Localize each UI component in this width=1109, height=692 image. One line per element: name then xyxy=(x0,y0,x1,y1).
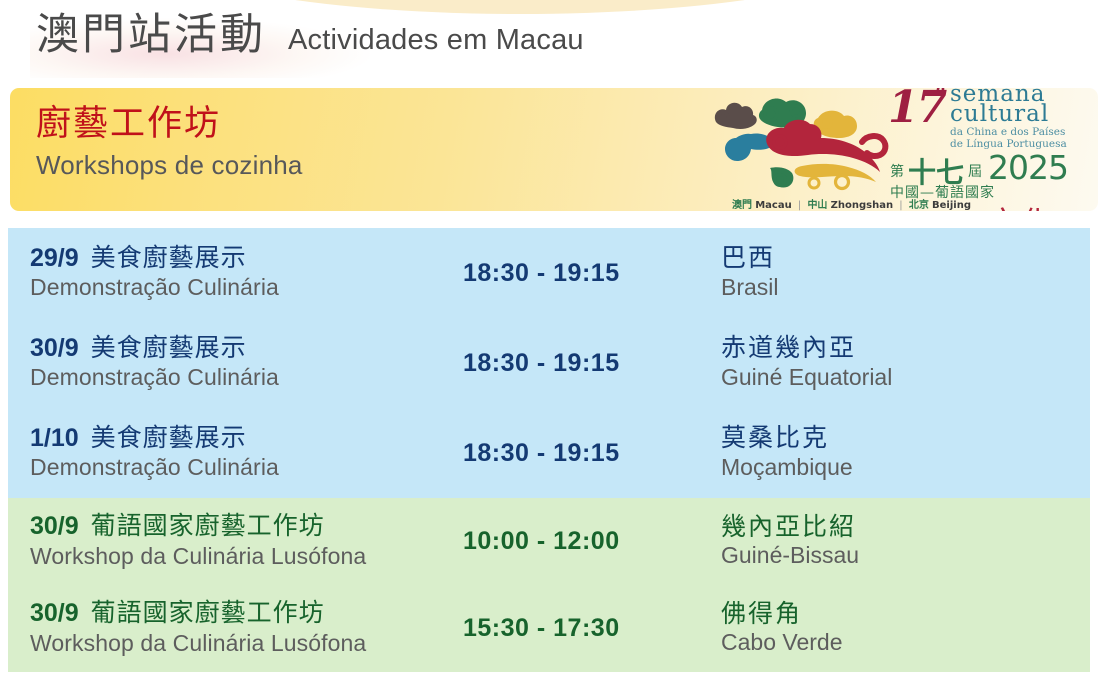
row-date: 30/9 xyxy=(30,335,79,363)
schedule-section-workshop: 30/9 葡語國家廚藝工作坊 Workshop da Culinária Lus… xyxy=(8,498,1090,672)
row-title-cell: 1/10 美食廚藝展示 Demonstração Culinária xyxy=(8,424,463,482)
row-country-cell: 巴西 Brasil xyxy=(721,244,1090,301)
city-separator: | xyxy=(798,200,801,211)
row-title-zh: 美食廚藝展示 xyxy=(91,334,247,362)
page-title-zh: 澳門站活動 xyxy=(36,14,266,57)
row-date: 30/9 xyxy=(30,600,79,628)
logo-cultural-text: cultural xyxy=(950,104,1049,125)
row-time: 15:30 - 17:30 xyxy=(463,614,620,642)
row-country-pt: Guiné Equatorial xyxy=(721,363,1090,392)
row-title-cell: 30/9 葡語國家廚藝工作坊 Workshop da Culinária Lus… xyxy=(8,599,463,657)
row-time: 18:30 - 19:15 xyxy=(463,259,620,287)
logo-cities-list: 澳門 Macau | 中山 Zhongshan | 北京 Beijing xyxy=(732,196,971,211)
row-country-pt: Moçambique xyxy=(721,453,1090,482)
banner-title-pt: Workshops de cozinha xyxy=(36,149,303,182)
row-title-zh: 美食廚藝展示 xyxy=(91,244,247,272)
row-country-zh: 莫桑比克 xyxy=(721,424,1090,452)
section-banner: 廚藝工作坊 Workshops de cozinha xyxy=(10,88,1098,211)
row-country-cell: 佛得角 Cabo Verde xyxy=(721,600,1090,657)
page-title-pt: Actividades em Macau xyxy=(288,26,584,55)
row-title-zh: 美食廚藝展示 xyxy=(91,424,247,452)
row-title-pt: Demonstração Culinária xyxy=(30,453,463,482)
row-country-pt: Guiné-Bissau xyxy=(721,541,1090,570)
row-title-cell: 30/9 美食廚藝展示 Demonstração Culinária xyxy=(8,334,463,392)
table-row[interactable]: 29/9 美食廚藝展示 Demonstração Culinária 18:30… xyxy=(8,228,1090,318)
table-row[interactable]: 30/9 葡語國家廚藝工作坊 Workshop da Culinária Lus… xyxy=(8,498,1090,585)
row-country-zh: 幾內亞比紹 xyxy=(721,513,1090,541)
table-row[interactable]: 30/9 葡語國家廚藝工作坊 Workshop da Culinária Lus… xyxy=(8,585,1090,672)
row-title-cell: 29/9 美食廚藝展示 Demonstração Culinária xyxy=(8,244,463,302)
banner-title-zh: 廚藝工作坊 xyxy=(36,104,303,144)
row-country-zh: 巴西 xyxy=(721,244,1090,272)
row-title-pt: Demonstração Culinária xyxy=(30,363,463,392)
table-row[interactable]: 30/9 美食廚藝展示 Demonstração Culinária 18:30… xyxy=(8,318,1090,408)
row-country-cell: 莫桑比克 Moçambique xyxy=(721,424,1090,481)
city-zh-beijing: 北京 xyxy=(909,200,929,211)
row-time: 18:30 - 19:15 xyxy=(463,349,620,377)
schedule-table: 29/9 美食廚藝展示 Demonstração Culinária 18:30… xyxy=(8,228,1090,672)
row-title-pt: Demonstração Culinária xyxy=(30,273,463,302)
row-time-cell: 10:00 - 12:00 xyxy=(463,527,721,556)
logo-year: 2025 xyxy=(988,148,1068,187)
row-country-zh: 赤道幾內亞 xyxy=(721,334,1090,362)
city-zh-zhongshan: 中山 xyxy=(807,200,827,211)
page-header: 澳門站活動 Actividades em Macau xyxy=(0,0,1109,84)
row-time-cell: 18:30 - 19:15 xyxy=(463,349,721,378)
row-date: 1/10 xyxy=(30,425,79,453)
logo-zh-jie: 屆 xyxy=(968,161,982,181)
row-country-pt: Brasil xyxy=(721,273,1090,302)
row-country-cell: 赤道幾內亞 Guiné Equatorial xyxy=(721,334,1090,391)
city-zh-macau: 澳門 xyxy=(732,200,752,211)
event-logo: 17 a semana cultural da China e dos País… xyxy=(710,88,1082,211)
logo-zh-di: 第 xyxy=(890,161,904,181)
row-country-pt: Cabo Verde xyxy=(721,628,1090,657)
row-time-cell: 15:30 - 17:30 xyxy=(463,614,721,643)
row-time-cell: 18:30 - 19:15 xyxy=(463,439,721,468)
row-country-zh: 佛得角 xyxy=(721,600,1090,628)
row-title-pt: Workshop da Culinária Lusófona xyxy=(30,629,463,658)
row-title-zh: 葡語國家廚藝工作坊 xyxy=(91,599,325,627)
row-time-cell: 18:30 - 19:15 xyxy=(463,259,721,288)
row-date: 30/9 xyxy=(30,513,79,541)
city-separator: | xyxy=(899,200,902,211)
row-time: 18:30 - 19:15 xyxy=(463,439,620,467)
schedule-section-demonstracao: 29/9 美食廚藝展示 Demonstração Culinária 18:30… xyxy=(8,228,1090,498)
table-row[interactable]: 1/10 美食廚藝展示 Demonstração Culinária 18:30… xyxy=(8,408,1090,498)
row-time: 10:00 - 12:00 xyxy=(463,527,620,555)
city-en-macau: Macau xyxy=(755,200,792,211)
row-date: 29/9 xyxy=(30,245,79,273)
row-title-pt: Workshop da Culinária Lusófona xyxy=(30,542,463,571)
city-en-beijing: Beijing xyxy=(932,200,971,211)
logo-zh-culture-week: 文化週 xyxy=(988,198,1084,211)
logo-subtitle-line1: da China e dos Países xyxy=(950,126,1065,138)
logo-edition-ordinal: a xyxy=(936,88,946,96)
city-en-zhongshan: Zhongshan xyxy=(831,200,893,211)
row-title-zh: 葡語國家廚藝工作坊 xyxy=(91,512,325,540)
row-title-cell: 30/9 葡語國家廚藝工作坊 Workshop da Culinária Lus… xyxy=(8,512,463,570)
row-country-cell: 幾內亞比紹 Guiné-Bissau xyxy=(721,513,1090,570)
auspicious-clouds-icon xyxy=(710,90,900,200)
